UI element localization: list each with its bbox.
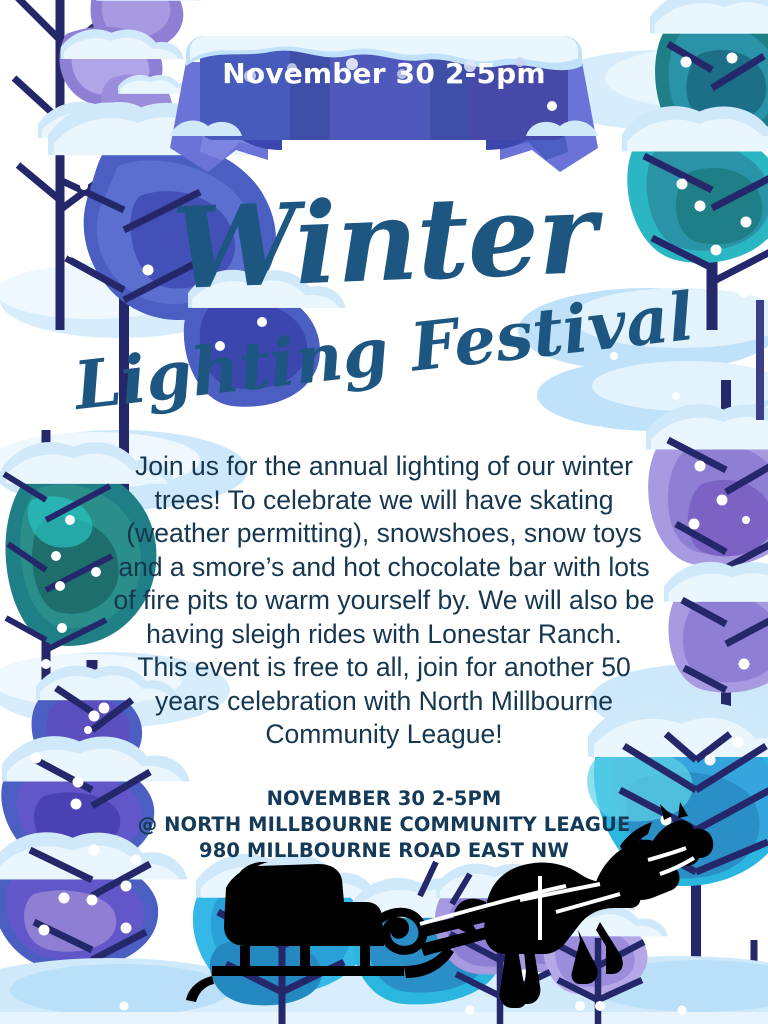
body-paragraph-1: Join us for the annual lighting of our w… (108, 450, 660, 651)
snow-tree-purple-right (646, 380, 768, 720)
body-paragraph-2: This event is free to all, join for anot… (108, 651, 660, 752)
detail-address: 980 MILLBOURNE ROAD EAST NW (84, 838, 684, 864)
detail-venue: @ NORTH MILLBOURNE COMMUNITY LEAGUE (84, 812, 684, 838)
tree-trunk-right-edge (754, 300, 760, 1010)
winter-festival-poster: November 30 2-5pm Winter Lighting Festiv… (0, 0, 768, 1024)
foreground-bushes (120, 854, 687, 1024)
detail-date-time: NOVEMBER 30 2-5PM (84, 786, 684, 812)
banner-date-time: November 30 2-5pm (0, 57, 768, 90)
poster-body-copy: Join us for the annual lighting of our w… (108, 450, 660, 752)
event-banner: November 30 2-5pm (0, 0, 768, 175)
snow-drifts (0, 956, 768, 1024)
event-details: NOVEMBER 30 2-5PM @ NORTH MILLBOURNE COM… (84, 786, 684, 864)
